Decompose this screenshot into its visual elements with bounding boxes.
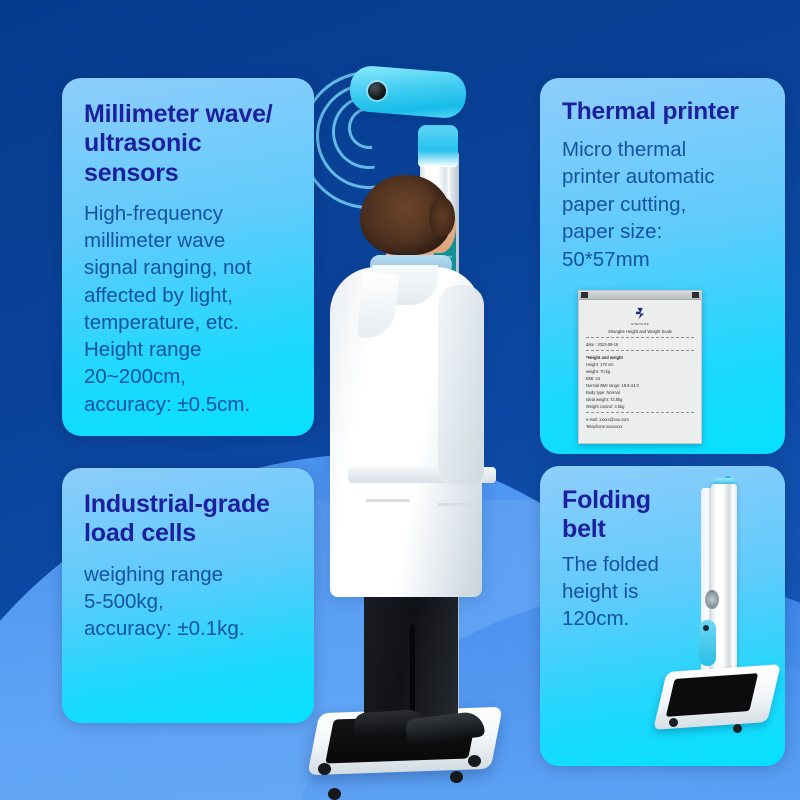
receipt-line-bmi-range: Normal BMI range: 18.5-24.0: [586, 382, 694, 389]
receipt-line-height: Height: 170 cm: [586, 361, 694, 368]
card-body-load-cells: weighing range 5-500kg, accuracy: ±0.1kg…: [84, 561, 294, 643]
platform-foot-1: [318, 763, 331, 775]
feature-card-thermal-printer[interactable]: Thermal printer Micro thermal printer au…: [540, 78, 785, 454]
sensor-head: [348, 65, 467, 120]
receipt-brand-logo-icon: [633, 306, 648, 321]
receipt-divider-1: [586, 337, 694, 338]
receipt-divider-3: [586, 412, 694, 413]
platform-foot-3: [328, 788, 341, 800]
receipt-heading: Shanghe Height and Weight Scale: [586, 329, 694, 334]
receipt-line-section: *Height and weight: [586, 354, 694, 361]
card-title-load-cells: Industrial-grade load cells: [84, 490, 294, 549]
feature-card-folding-belt[interactable]: Folding belt The folded height is 120cm.: [540, 466, 785, 766]
card-title-thermal-printer: Thermal printer: [562, 98, 767, 127]
receipt-line-email: e-mail: xxxxx@xxx.com: [586, 416, 694, 423]
platform-foot-4: [468, 755, 481, 767]
receipt-line-weight-control: Weight control: 3.5kg: [586, 403, 694, 410]
feature-card-millimeter-wave[interactable]: Millimeter wave/ ultrasonic sensors High…: [62, 78, 314, 436]
folded-speaker-grill: [705, 590, 719, 609]
card-body-thermal-printer: Micro thermal printer automatic paper cu…: [562, 136, 767, 273]
coat-pocket-left: [366, 499, 410, 502]
coat-sleeve: [438, 285, 484, 485]
receipt-line-telephone: Telephone:xxxxxxxx: [586, 423, 694, 430]
person-on-scale: [314, 175, 504, 735]
folded-footprint-mat: [666, 673, 758, 717]
receipt-brand-name: SHENGHE: [586, 322, 694, 326]
folded-device-illustration: [661, 472, 779, 762]
sensor-arm-joint: [418, 125, 458, 167]
coat-lapel: [357, 271, 400, 340]
receipt-line-weight: weight: 70 kg: [586, 368, 694, 375]
receipt-line-bmi: BMI: 24: [586, 375, 694, 382]
printer-cutter-bar: [579, 291, 701, 300]
receipt-divider-2: [586, 350, 694, 351]
folded-foot-1: [669, 718, 678, 727]
infographic-canvas: SHENGHE Height and Weight Scale: [0, 0, 800, 800]
card-body-millimeter-wave: High-frequency millimeter wave signal ra…: [84, 200, 294, 418]
feature-card-load-cells[interactable]: Industrial-grade load cells weighing ran…: [62, 468, 314, 723]
receipt-line-date: date : 2023-08-16: [586, 341, 694, 348]
coat-pocket-right: [438, 503, 480, 506]
platform-foot-2: [450, 771, 463, 783]
printed-receipt: SHENGHE Shanghe Height and Weight Scale …: [578, 290, 702, 444]
card-title-millimeter-wave: Millimeter wave/ ultrasonic sensors: [84, 100, 294, 188]
folded-foot-2: [733, 724, 742, 733]
height-weight-scale-illustration: SHENGHE Height and Weight Scale: [300, 55, 520, 795]
receipt-line-body-type: Body type: Normal: [586, 389, 694, 396]
folded-belt-grip: [699, 620, 716, 666]
person-leg-gap: [410, 625, 415, 721]
receipt-line-ideal-weight: Ideal weight: 72.5kg: [586, 396, 694, 403]
person-hair: [360, 175, 452, 255]
